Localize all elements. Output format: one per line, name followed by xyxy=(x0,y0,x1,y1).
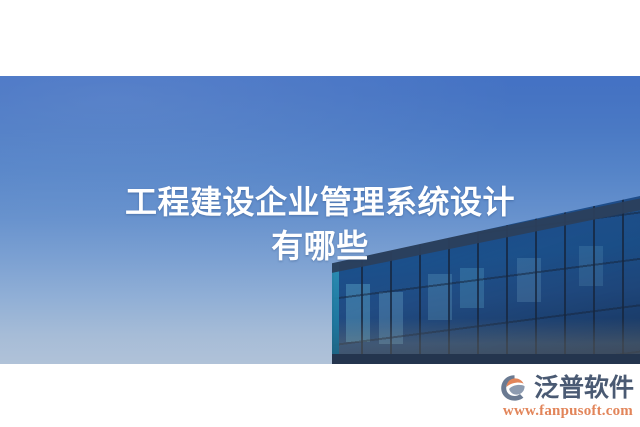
top-white-band xyxy=(0,0,640,76)
fanpu-leaf-mark-icon xyxy=(500,374,530,402)
brand-name: 泛普软件 xyxy=(534,374,634,402)
building-left-edge xyxy=(332,263,339,364)
building-base-plinth xyxy=(332,354,640,364)
brand-logo: 泛普软件 www.fanpusoft.com xyxy=(500,374,634,420)
headline: 工程建设企业管理系统设计 有哪些 xyxy=(0,180,640,268)
headline-line-1: 工程建设企业管理系统设计 xyxy=(0,180,640,224)
headline-line-2: 有哪些 xyxy=(0,224,640,268)
banner-page: 工程建设企业管理系统设计 有哪些 泛普软件 www.fanpusoft.com xyxy=(0,0,640,427)
logo-row: 泛普软件 xyxy=(500,374,634,402)
hero-image: 工程建设企业管理系统设计 有哪些 xyxy=(0,76,640,364)
bottom-white-band: 泛普软件 www.fanpusoft.com xyxy=(0,364,640,427)
brand-website: www.fanpusoft.com xyxy=(503,403,633,420)
